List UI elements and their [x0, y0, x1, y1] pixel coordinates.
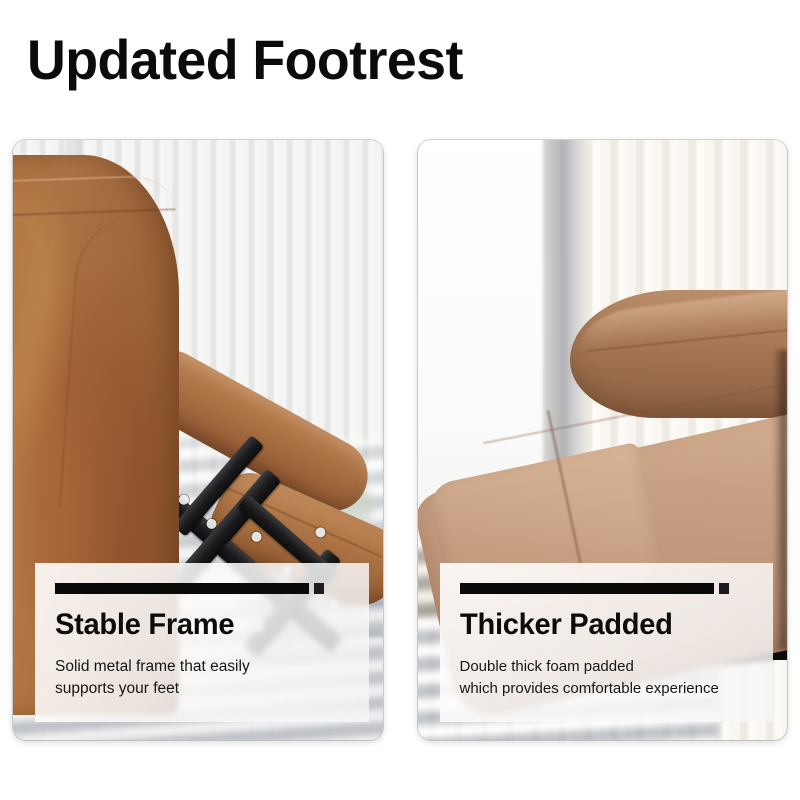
page-title: Updated Footrest: [27, 29, 463, 91]
panel-stable-frame[interactable]: Stable Frame Solid metal frame that easi…: [13, 140, 383, 740]
caption-body-line: which provides comfortable experience: [460, 678, 756, 700]
caption-card-stable-frame: Stable Frame Solid metal frame that easi…: [35, 563, 369, 722]
bar-end-square: [719, 583, 729, 594]
caption-title-thicker-padded: Thicker Padded: [460, 608, 747, 642]
bar-decoration: [460, 583, 756, 594]
bar-main-segment: [460, 583, 714, 594]
bar-end-square: [314, 583, 324, 594]
caption-body-stable-frame: Solid metal frame that easily supports y…: [55, 656, 351, 700]
caption-body-thicker-padded: Double thick foam padded which provides …: [460, 656, 756, 700]
caption-body-line: Solid metal frame that easily: [55, 656, 351, 678]
panel-edge-shade-right: [773, 350, 787, 650]
panel-thicker-padded[interactable]: Thicker Padded Double thick foam padded …: [418, 140, 788, 740]
bar-decoration: [55, 583, 351, 594]
panel-row: Stable Frame Solid metal frame that easi…: [13, 140, 787, 740]
caption-body-line: Double thick foam padded: [460, 656, 756, 678]
caption-title-stable-frame: Stable Frame: [55, 608, 342, 642]
bar-main-segment: [55, 583, 309, 594]
caption-body-line: supports your feet: [55, 678, 351, 700]
infographic-page: Updated Footrest: [0, 0, 800, 800]
caption-card-thicker-padded: Thicker Padded Double thick foam padded …: [440, 563, 774, 722]
